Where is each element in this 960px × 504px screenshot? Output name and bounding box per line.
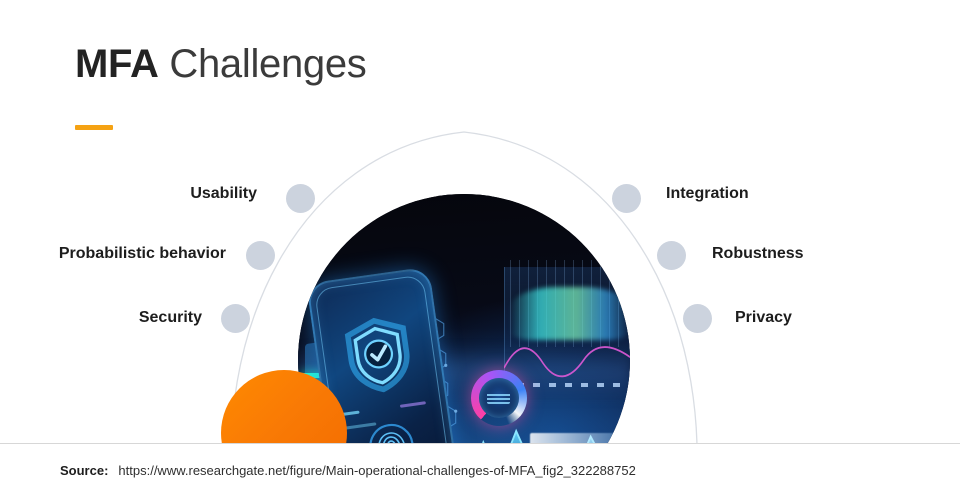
node-security[interactable] (221, 304, 250, 333)
node-label-robustness: Robustness (712, 245, 804, 263)
image-readout-a (530, 433, 616, 443)
image-axis-ticks (517, 383, 623, 387)
shield-check-icon (339, 307, 417, 403)
node-usability[interactable] (286, 184, 315, 213)
node-privacy[interactable] (683, 304, 712, 333)
node-integration[interactable] (612, 184, 641, 213)
node-label-usability: Usability (190, 185, 257, 203)
image-scene (298, 194, 630, 443)
node-label-integration: Integration (666, 185, 749, 203)
node-robustness[interactable] (657, 241, 686, 270)
footer-divider (0, 443, 960, 444)
source-url[interactable]: https://www.researchgate.net/figure/Main… (118, 463, 635, 478)
image-spectrum-band (510, 287, 630, 340)
image-sine-wave (504, 337, 630, 383)
node-label-privacy: Privacy (735, 309, 792, 327)
diagram-stage: Usability Probabilistic behavior Securit… (0, 0, 960, 443)
source-label: Source: (60, 463, 108, 478)
center-circular-image (298, 194, 630, 443)
node-label-security: Security (139, 309, 202, 327)
node-label-probabilistic-behavior: Probabilistic behavior (59, 245, 226, 263)
source-line: Source:https://www.researchgate.net/figu… (60, 463, 636, 478)
slide: MFA Challenges (0, 0, 960, 504)
node-probabilistic-behavior[interactable] (246, 241, 275, 270)
